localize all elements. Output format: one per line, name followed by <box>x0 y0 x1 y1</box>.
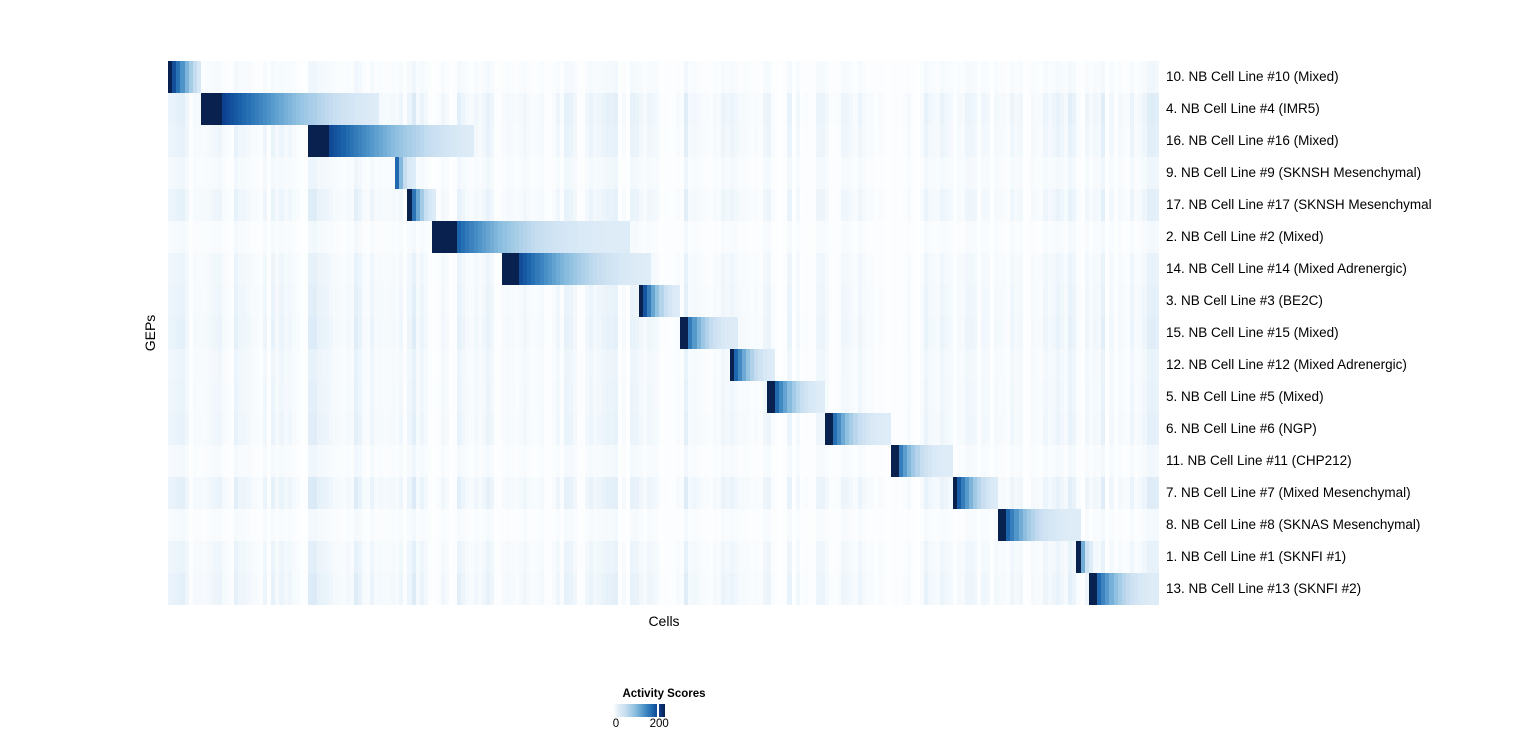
heatmap-cell <box>1155 541 1159 573</box>
colorbar-tick-label: 0 <box>613 718 619 730</box>
heatmap-row <box>168 445 1159 477</box>
row-label: 7. NB Cell Line #7 (Mixed Mesenchymal) <box>1166 477 1411 509</box>
row-label: 5. NB Cell Line #5 (Mixed) <box>1166 381 1324 413</box>
heatmap-cell <box>1155 509 1159 541</box>
heatmap-row <box>168 285 1159 317</box>
heatmap-figure: GEPs Cells 10. NB Cell Line #10 (Mixed)4… <box>0 0 1540 743</box>
row-label: 11. NB Cell Line #11 (CHP212) <box>1166 445 1352 477</box>
heatmap-cell <box>1155 221 1159 253</box>
heatmap-row <box>168 509 1159 541</box>
heatmap-cell <box>1155 253 1159 285</box>
row-label: 14. NB Cell Line #14 (Mixed Adrenergic) <box>1166 253 1407 285</box>
row-label: 10. NB Cell Line #10 (Mixed) <box>1166 61 1339 93</box>
row-label: 8. NB Cell Line #8 (SKNAS Mesenchymal) <box>1166 509 1420 541</box>
heatmap-row <box>168 93 1159 125</box>
heatmap-row <box>168 157 1159 189</box>
heatmap-cell <box>1155 573 1159 605</box>
heatmap-cell <box>1155 381 1159 413</box>
row-label: 17. NB Cell Line #17 (SKNSH Mesenchymal <box>1166 189 1432 221</box>
heatmap-cell <box>1155 125 1159 157</box>
heatmap-cell <box>1155 349 1159 381</box>
row-label: 13. NB Cell Line #13 (SKNFI #2) <box>1166 573 1361 605</box>
heatmap-cell <box>1155 477 1159 509</box>
x-axis-label: Cells <box>648 613 679 629</box>
heatmap-cell <box>1155 413 1159 445</box>
heatmap-row <box>168 125 1159 157</box>
heatmap-cell <box>1155 93 1159 125</box>
y-axis-label: GEPs <box>142 315 158 352</box>
row-label: 12. NB Cell Line #12 (Mixed Adrenergic) <box>1166 349 1407 381</box>
row-label: 1. NB Cell Line #1 (SKNFI #1) <box>1166 541 1346 573</box>
heatmap-cell <box>1155 189 1159 221</box>
heatmap-cell <box>1155 285 1159 317</box>
colorbar-tick <box>657 704 659 717</box>
heatmap-cell <box>1155 157 1159 189</box>
row-label: 2. NB Cell Line #2 (Mixed) <box>1166 221 1324 253</box>
heatmap-row <box>168 349 1159 381</box>
heatmap-panel <box>168 61 1159 605</box>
row-label: 16. NB Cell Line #16 (Mixed) <box>1166 125 1339 157</box>
row-label: 6. NB Cell Line #6 (NGP) <box>1166 413 1317 445</box>
colorbar-title: Activity Scores <box>622 688 705 700</box>
heatmap-row <box>168 413 1159 445</box>
row-label: 9. NB Cell Line #9 (SKNSH Mesenchymal) <box>1166 157 1421 189</box>
heatmap-cell <box>1155 61 1159 93</box>
row-label-list: 10. NB Cell Line #10 (Mixed)4. NB Cell L… <box>1166 61 1536 605</box>
row-label: 15. NB Cell Line #15 (Mixed) <box>1166 317 1339 349</box>
row-label: 3. NB Cell Line #3 (BE2C) <box>1166 285 1323 317</box>
colorbar-tick-label: 200 <box>650 718 669 730</box>
heatmap-row <box>168 61 1159 93</box>
heatmap-row <box>168 221 1159 253</box>
heatmap-row <box>168 477 1159 509</box>
heatmap-row <box>168 541 1159 573</box>
heatmap-cell <box>1155 445 1159 477</box>
colorbar-legend: Activity Scores 0200 <box>613 688 773 743</box>
heatmap-row <box>168 317 1159 349</box>
heatmap-row <box>168 253 1159 285</box>
heatmap-row <box>168 573 1159 605</box>
heatmap-cell <box>1155 317 1159 349</box>
row-label: 4. NB Cell Line #4 (IMR5) <box>1166 93 1320 125</box>
heatmap-row <box>168 381 1159 413</box>
heatmap-row <box>168 189 1159 221</box>
